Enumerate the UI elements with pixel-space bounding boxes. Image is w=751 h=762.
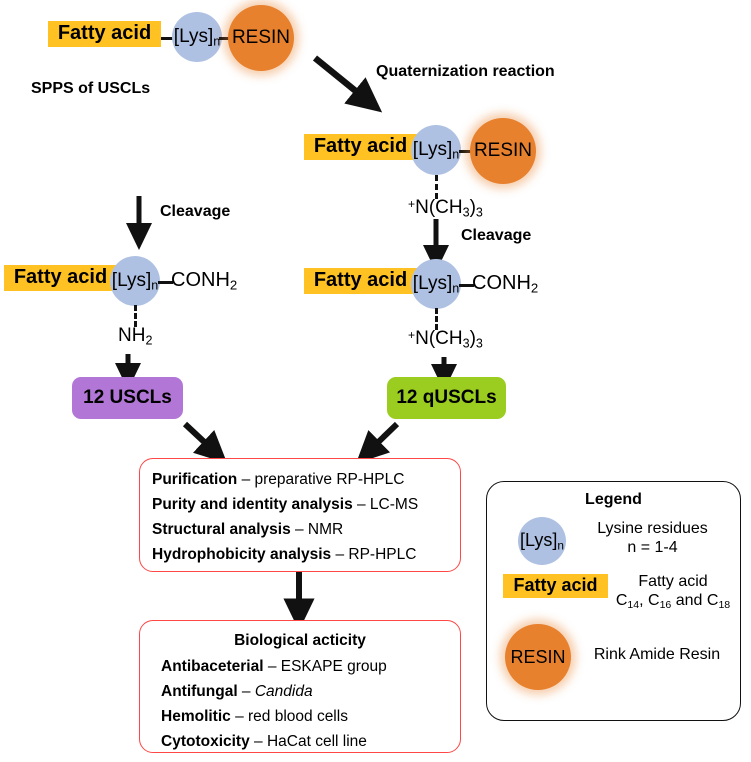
analysis-line-rest: – RP-HPLC xyxy=(331,546,416,563)
analysis-line-bold: Purity and identity analysis xyxy=(152,496,353,513)
ammonium-group-quscl: +N(CH3)3 xyxy=(408,328,483,351)
lysine-circle-quat: [Lys]n xyxy=(411,125,461,175)
resin-circle-quat: RESIN xyxy=(470,118,536,184)
analysis-line-bold: Structural analysis xyxy=(152,521,291,538)
legend-box: Legend [Lys]n Lysine residues n = 1-4 Fa… xyxy=(486,481,741,721)
analysis-line: Purification – preparative RP-HPLC xyxy=(152,467,460,492)
legend-lysine-circle: [Lys]n xyxy=(518,517,566,565)
cleavage-label-right: Cleavage xyxy=(461,227,531,245)
uscl-product-pill: 12 USCLs xyxy=(72,377,183,419)
analysis-line: Purity and identity analysis – LC-MS xyxy=(152,492,460,517)
legend-fatty-acid-desc-line1: Fatty acid xyxy=(611,573,735,592)
resin-label: RESIN xyxy=(474,140,532,162)
cleavage-label-left: Cleavage xyxy=(160,203,230,221)
analysis-line: Structural analysis – NMR xyxy=(152,517,460,542)
terminus-quscl: CONH2 xyxy=(472,272,538,296)
legend-resin-desc-line1: Rink Amide Resin xyxy=(579,646,735,665)
dashed-bond-uscl xyxy=(134,305,137,327)
resin-label: RESIN xyxy=(232,27,290,49)
legend-lysine-desc-line1: Lysine residues xyxy=(575,520,730,539)
dashed-bond-quat xyxy=(435,175,438,199)
activity-line: Antibaceterial – ESKAPE group xyxy=(140,654,460,679)
flow-diagram-canvas: Fatty acid [Lys]n RESIN SPPS of USCLs Qu… xyxy=(0,0,751,762)
quscl-product-pill: 12 qUSCLs xyxy=(387,377,506,419)
lysine-label: [Lys]n xyxy=(413,273,459,296)
side-chain-amine-uscl: NH2 xyxy=(118,325,152,348)
analysis-line-rest: – NMR xyxy=(291,521,344,538)
analysis-line-rest: – LC-MS xyxy=(353,496,418,513)
activity-line: Hemolitic – red blood cells xyxy=(140,704,460,729)
analysis-line-rest: – preparative RP-HPLC xyxy=(237,471,404,488)
activity-line-rest: – ESKAPE group xyxy=(264,658,387,675)
activity-line-rest: – xyxy=(238,683,255,700)
analysis-box: Purification – preparative RP-HPLC Purit… xyxy=(139,458,461,572)
analysis-line: Hydrophobicity analysis – RP-HPLC xyxy=(152,542,460,567)
arrow-uscl-to-analysis xyxy=(185,424,215,452)
activity-line: Antifungal – Candida xyxy=(140,679,460,704)
activity-line-bold: Cytotoxicity xyxy=(161,733,250,750)
analysis-line-bold: Purification xyxy=(152,471,237,488)
activity-line-bold: Antibaceterial xyxy=(161,658,264,675)
lysine-circle-top: [Lys]n xyxy=(172,12,222,62)
spps-label: SPPS of USCLs xyxy=(31,80,150,98)
dashed-bond-quscl xyxy=(435,308,438,330)
fatty-acid-label-uscl: Fatty acid xyxy=(4,265,117,291)
ammonium-group-quat: +N(CH3)3 xyxy=(408,197,483,220)
lysine-label: [Lys]n xyxy=(413,139,459,162)
fatty-acid-label-top: Fatty acid xyxy=(48,21,161,47)
legend-lysine-desc: Lysine residues n = 1-4 xyxy=(575,520,730,558)
analysis-line-bold: Hydrophobicity analysis xyxy=(152,546,331,563)
arrow-to-quaternization xyxy=(315,58,368,101)
legend-resin-label: RESIN xyxy=(510,647,565,668)
activity-line-bold: Antifungal xyxy=(161,683,238,700)
lysine-circle-quscl: [Lys]n xyxy=(411,259,461,309)
legend-fatty-acid-desc: Fatty acid C14, C16 and C18 xyxy=(611,573,735,611)
resin-circle-top: RESIN xyxy=(228,5,294,71)
activity-box: Biological acticity Antibaceterial – ESK… xyxy=(139,620,461,753)
legend-lysine-label: [Lys]n xyxy=(520,530,564,552)
legend-resin-desc: Rink Amide Resin xyxy=(579,646,735,665)
legend-title: Legend xyxy=(487,491,740,509)
lysine-label: [Lys]n xyxy=(174,26,220,49)
activity-line-rest: – HaCat cell line xyxy=(250,733,367,750)
quaternization-label: Quaternization reaction xyxy=(376,63,555,81)
legend-resin-circle: RESIN xyxy=(505,624,571,690)
legend-fatty-acid-desc-line2: C14, C16 and C18 xyxy=(611,592,735,611)
activity-line-rest: – red blood cells xyxy=(231,708,348,725)
arrow-quscl-to-analysis xyxy=(368,424,397,452)
fatty-acid-label-quat: Fatty acid xyxy=(304,134,417,160)
lysine-label: [Lys]n xyxy=(112,270,158,293)
activity-heading: Biological acticity xyxy=(140,628,460,654)
activity-line-bold: Hemolitic xyxy=(161,708,231,725)
fatty-acid-label-quscl: Fatty acid xyxy=(304,268,417,294)
terminus-uscl: CONH2 xyxy=(171,269,237,293)
legend-lysine-desc-line2: n = 1-4 xyxy=(575,539,730,558)
lysine-circle-uscl: [Lys]n xyxy=(110,256,160,306)
activity-line-italic: Candida xyxy=(255,683,313,700)
legend-fatty-acid-label: Fatty acid xyxy=(503,574,608,598)
activity-line: Cytotoxicity – HaCat cell line xyxy=(140,729,460,754)
